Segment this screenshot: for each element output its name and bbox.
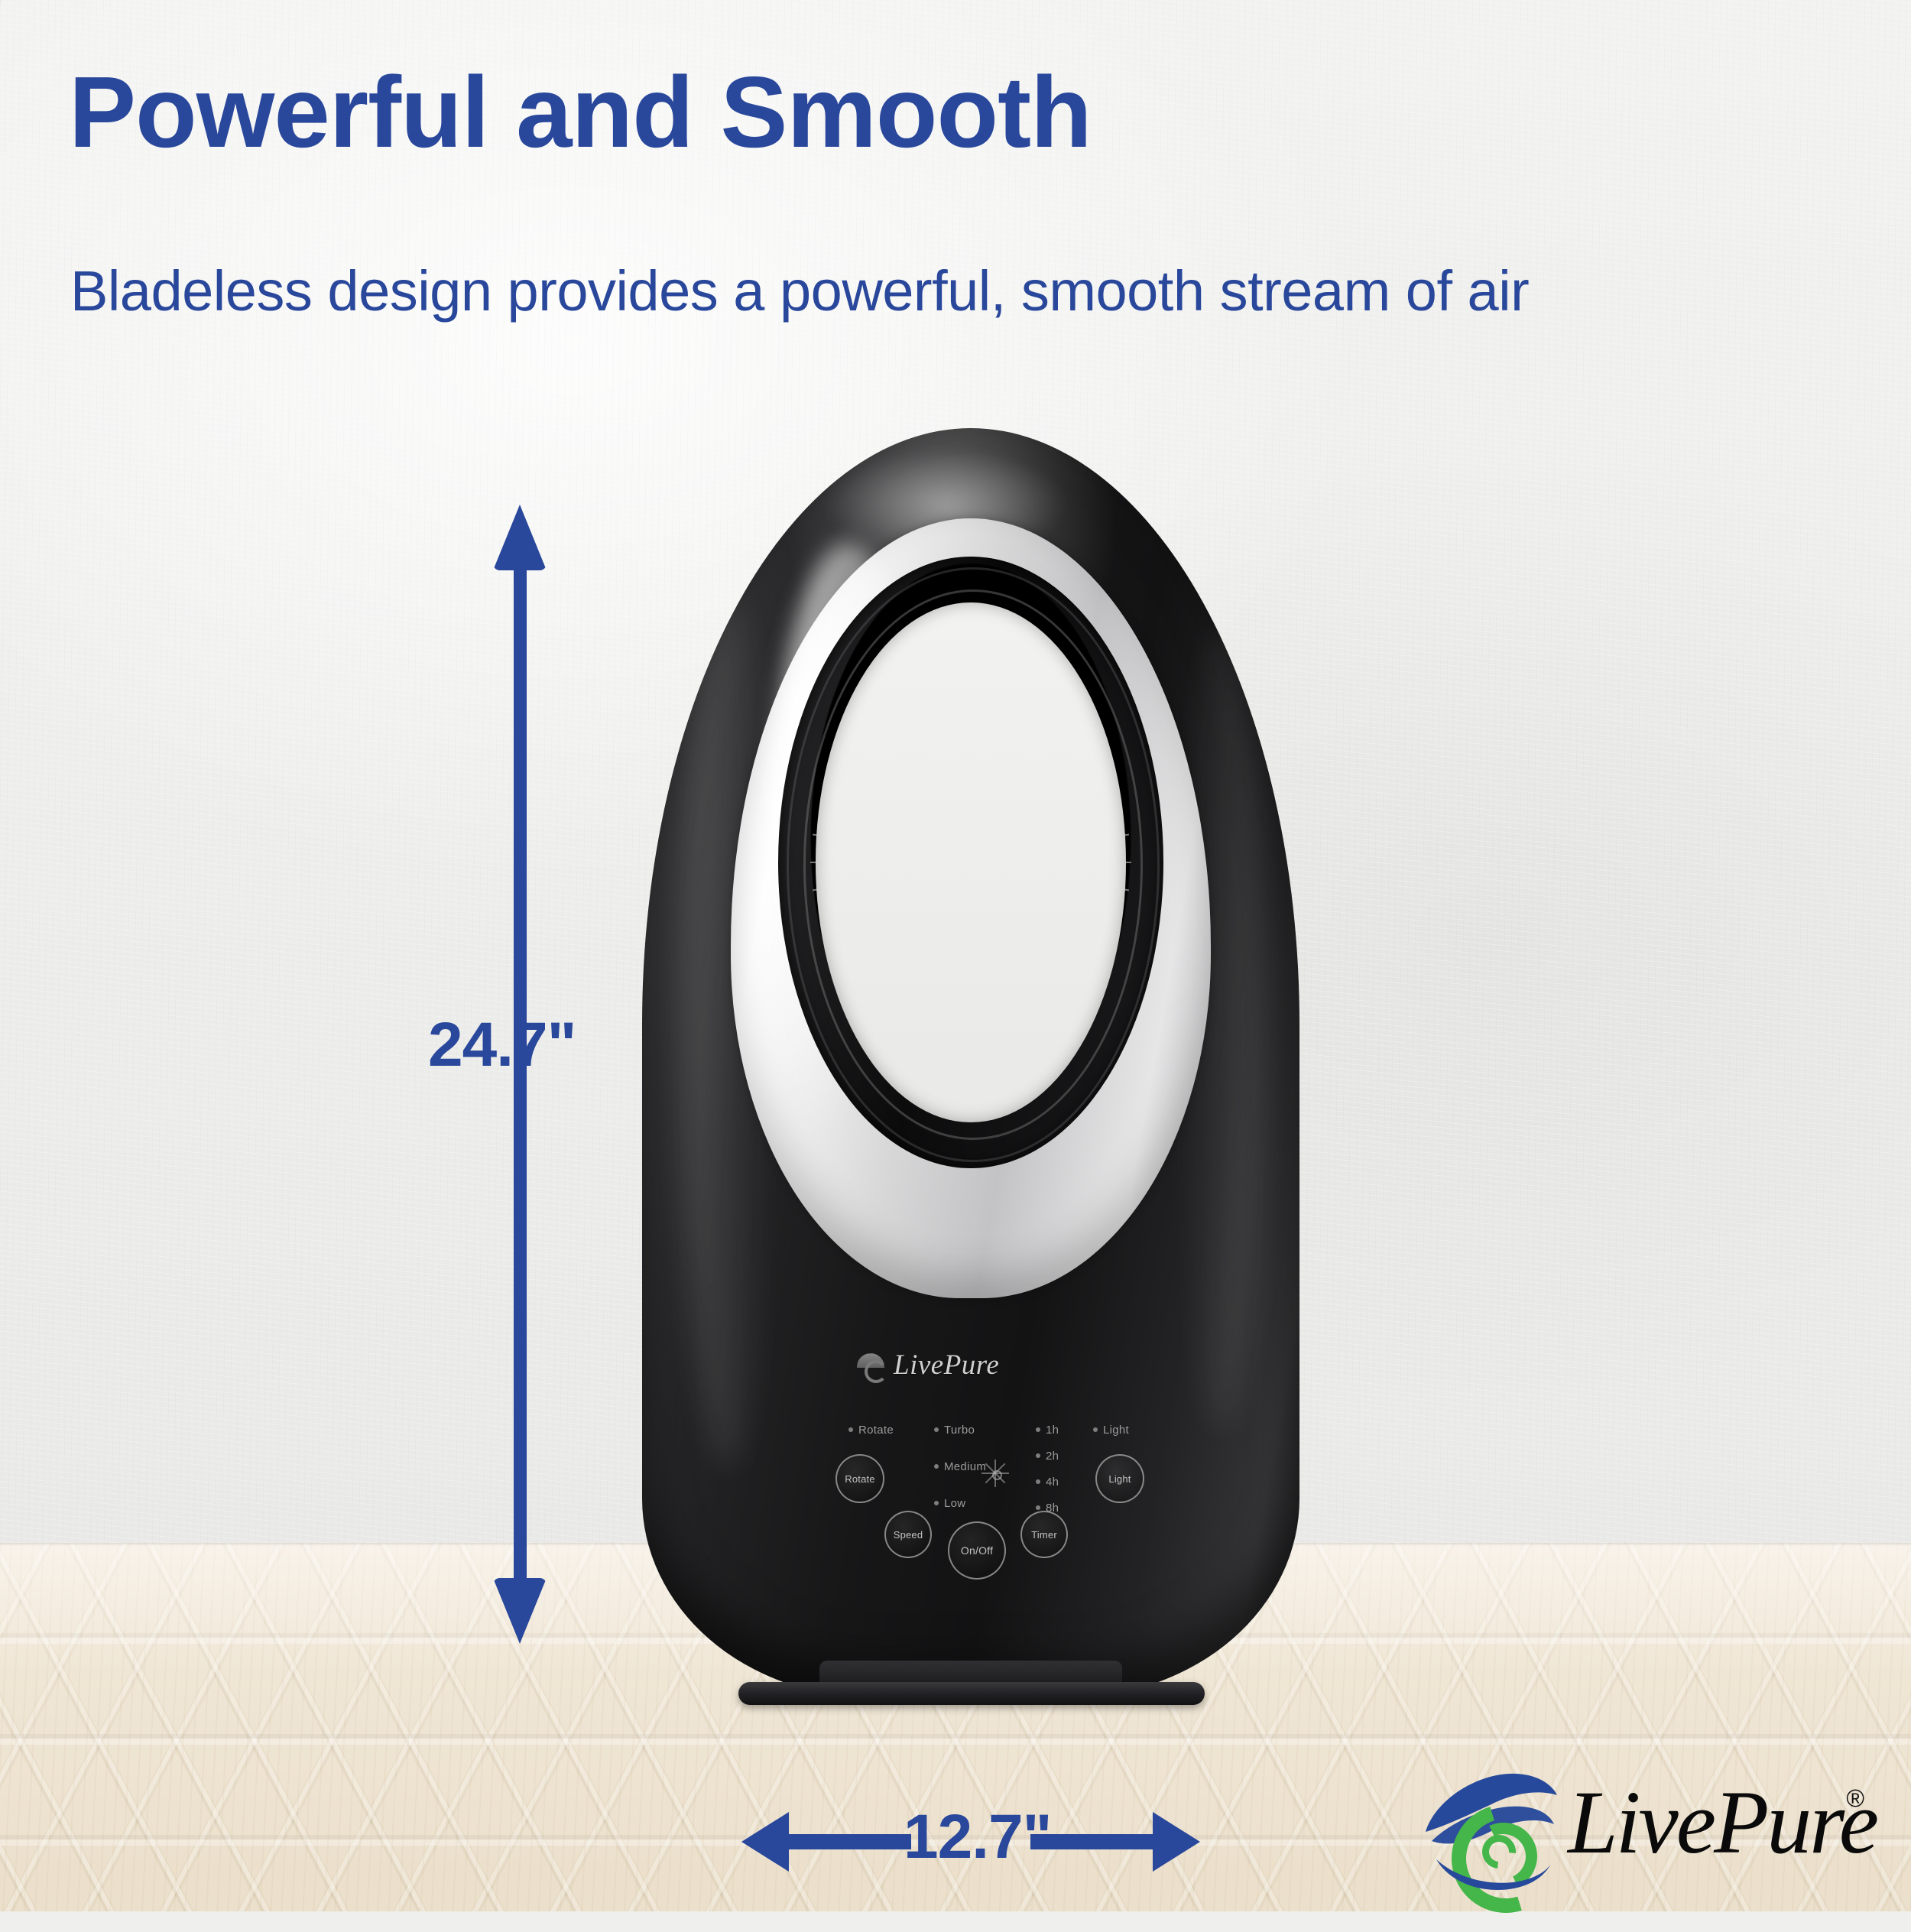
button-light[interactable]: Light	[1095, 1454, 1144, 1503]
label-timer-4h: 4h	[1046, 1476, 1059, 1489]
label-timer-1h: 1h	[1046, 1424, 1059, 1437]
arrow-horizontal-shaft-left	[781, 1834, 911, 1849]
label-rotate: Rotate	[858, 1424, 894, 1437]
fan-control-panel: Rotate Turbo Medium Low 1h 2h 4h 8h Ligh…	[829, 1422, 1158, 1598]
brand-name: LivePure	[1568, 1771, 1877, 1875]
height-dimension-label: 24.7"	[428, 1009, 576, 1081]
arrow-down-icon	[493, 1578, 547, 1644]
snowflake-icon	[978, 1456, 1013, 1491]
fan-body-logo: LivePure	[856, 1342, 1085, 1388]
arrow-right-icon	[1153, 1812, 1200, 1872]
livepure-logo-icon	[1418, 1765, 1563, 1887]
fan-air-aperture	[816, 602, 1126, 1122]
product-bladeless-fan: LivePure Rotate Turbo Medium Low 1h 2h 4…	[642, 428, 1299, 1728]
button-timer[interactable]: Timer	[1020, 1511, 1068, 1558]
label-timer-2h: 2h	[1046, 1450, 1059, 1463]
button-speed[interactable]: Speed	[884, 1511, 932, 1558]
registered-trademark-symbol: ®	[1846, 1784, 1864, 1813]
label-turbo: Turbo	[944, 1424, 975, 1437]
brand-logo: LivePure ®	[1418, 1758, 1861, 1900]
button-power[interactable]: On/Off	[948, 1521, 1006, 1580]
livepure-mark-icon	[856, 1352, 887, 1378]
fan-base-plate	[738, 1682, 1205, 1705]
page-title: Powerful and Smooth	[69, 60, 1636, 164]
width-dimension-label: 12.7"	[904, 1801, 1051, 1873]
label-light: Light	[1103, 1424, 1129, 1437]
label-low: Low	[944, 1497, 965, 1510]
promo-canvas: Powerful and Smooth Bladeless design pro…	[0, 0, 1911, 1911]
page-subtitle: Bladeless design provides a powerful, sm…	[70, 260, 1851, 322]
button-rotate[interactable]: Rotate	[835, 1454, 884, 1503]
fan-body-logo-text: LivePure	[894, 1349, 999, 1382]
